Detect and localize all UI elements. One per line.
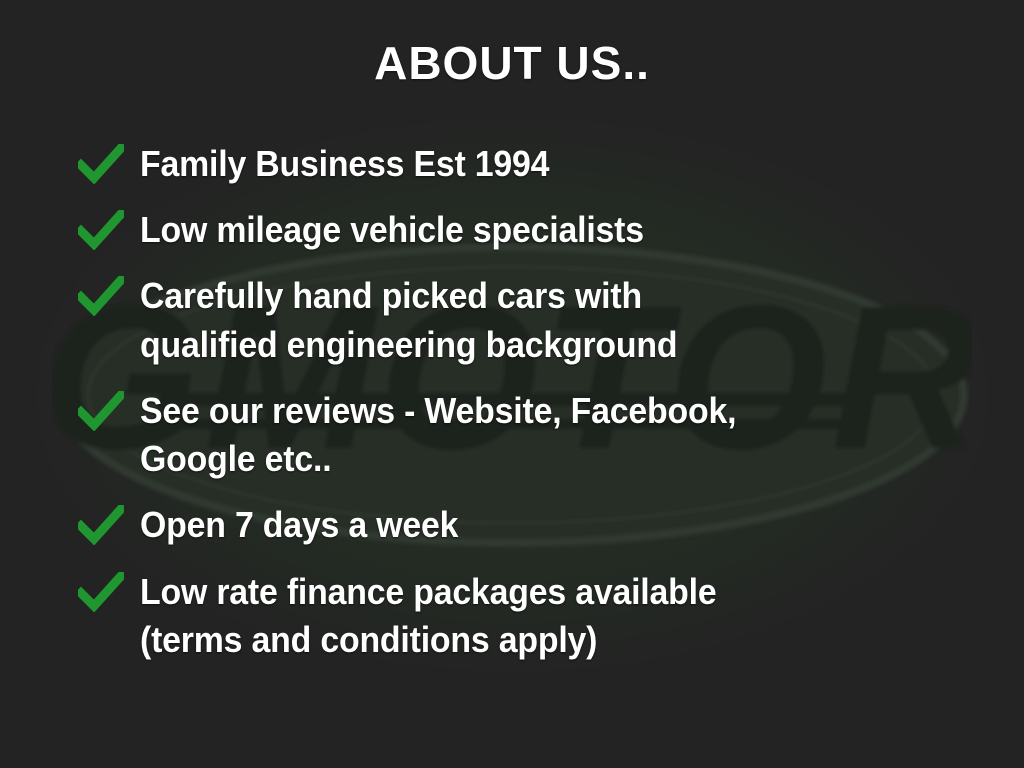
list-item: Low mileage vehicle specialists bbox=[78, 206, 978, 254]
check-icon bbox=[78, 272, 140, 316]
check-icon bbox=[78, 206, 140, 250]
check-icon bbox=[78, 140, 140, 184]
page-title: ABOUT US.. bbox=[0, 38, 1024, 89]
list-item: Open 7 days a week bbox=[78, 501, 978, 549]
list-item: Family Business Est 1994 bbox=[78, 140, 978, 188]
list-item-label: Family Business Est 1994 bbox=[140, 140, 928, 188]
check-icon bbox=[78, 568, 140, 612]
list-item-label: Carefully hand picked cars with qualifie… bbox=[140, 272, 928, 368]
about-us-slide: SGMOTORS ABOUT US.. Family Business Est … bbox=[0, 0, 1024, 768]
check-icon bbox=[78, 501, 140, 545]
list-item: See our reviews - Website, Facebook, Goo… bbox=[78, 387, 978, 483]
about-us-bullet-list: Family Business Est 1994 Low mileage veh… bbox=[78, 140, 978, 682]
list-item-label: Low rate finance packages available (ter… bbox=[140, 568, 928, 664]
list-item-label: Low mileage vehicle specialists bbox=[140, 206, 928, 254]
check-icon bbox=[78, 387, 140, 431]
list-item-label: Open 7 days a week bbox=[140, 501, 928, 549]
list-item-label: See our reviews - Website, Facebook, Goo… bbox=[140, 387, 928, 483]
list-item: Carefully hand picked cars with qualifie… bbox=[78, 272, 978, 368]
list-item: Low rate finance packages available (ter… bbox=[78, 568, 978, 664]
